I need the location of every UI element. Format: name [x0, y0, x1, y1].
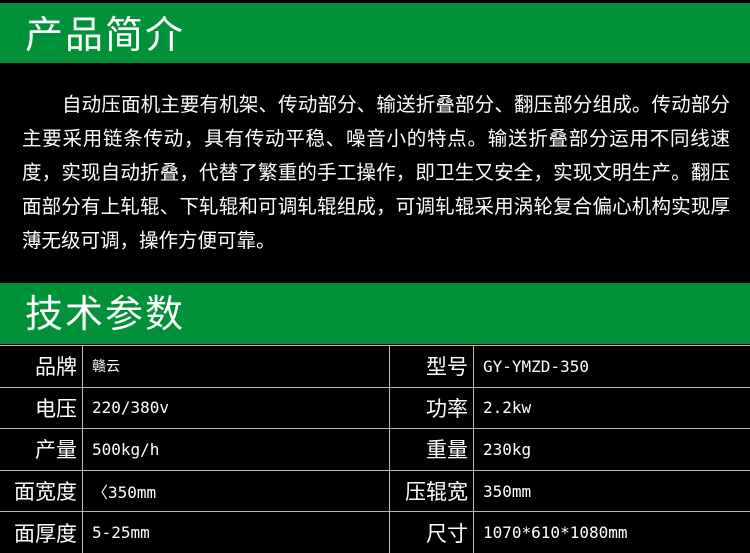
spec-label-power: 功率	[390, 387, 474, 429]
spec-value-roller-width: 350mm	[474, 470, 750, 512]
spec-value-noodle-width: 〈350mm	[83, 470, 390, 512]
table-row: 面厚度 5-25mm 尺寸 1070*610*1080mm	[0, 512, 750, 553]
spec-value-dimensions: 1070*610*1080mm	[474, 512, 750, 553]
spec-label-capacity: 产量	[0, 429, 83, 471]
spec-value-voltage: 220/380v	[83, 387, 390, 429]
spec-label-model: 型号	[390, 346, 474, 388]
spec-value-weight: 230kg	[474, 429, 750, 471]
spec-value-power: 2.2kw	[474, 387, 750, 429]
spec-value-noodle-thickness: 5-25mm	[83, 512, 390, 553]
spec-value-capacity: 500kg/h	[83, 429, 390, 471]
table-row: 电压 220/380v 功率 2.2kw	[0, 387, 750, 429]
spec-label-noodle-width: 面宽度	[0, 470, 83, 512]
table-row: 品牌 赣云 型号 GY-YMZD-350	[0, 346, 750, 388]
product-intro-description: 自动压面机主要有机架、传动部分、输送折叠部分、翻压部分组成。传动部分主要采用链条…	[22, 88, 730, 258]
product-intro-title: 产品简介	[25, 16, 185, 54]
spec-label-noodle-thickness: 面厚度	[0, 512, 83, 553]
table-row: 面宽度 〈350mm 压辊宽 350mm	[0, 470, 750, 512]
spec-value-brand: 赣云	[83, 346, 390, 388]
spec-label-roller-width: 压辊宽	[390, 470, 474, 512]
spec-label-voltage: 电压	[0, 387, 83, 429]
tech-specs-table-body: 品牌 赣云 型号 GY-YMZD-350 电压 220/380v 功率 2.2k…	[0, 346, 750, 553]
table-row: 产量 500kg/h 重量 230kg	[0, 429, 750, 471]
product-spec-page: 产品简介 自动压面机主要有机架、传动部分、输送折叠部分、翻压部分组成。传动部分主…	[0, 0, 750, 548]
tech-specs-table: 品牌 赣云 型号 GY-YMZD-350 电压 220/380v 功率 2.2k…	[0, 345, 750, 553]
spec-label-weight: 重量	[390, 429, 474, 471]
tech-specs-title: 技术参数	[25, 295, 185, 333]
spec-label-dimensions: 尺寸	[390, 512, 474, 553]
spec-label-brand: 品牌	[0, 346, 83, 388]
spec-value-model: GY-YMZD-350	[474, 346, 750, 388]
